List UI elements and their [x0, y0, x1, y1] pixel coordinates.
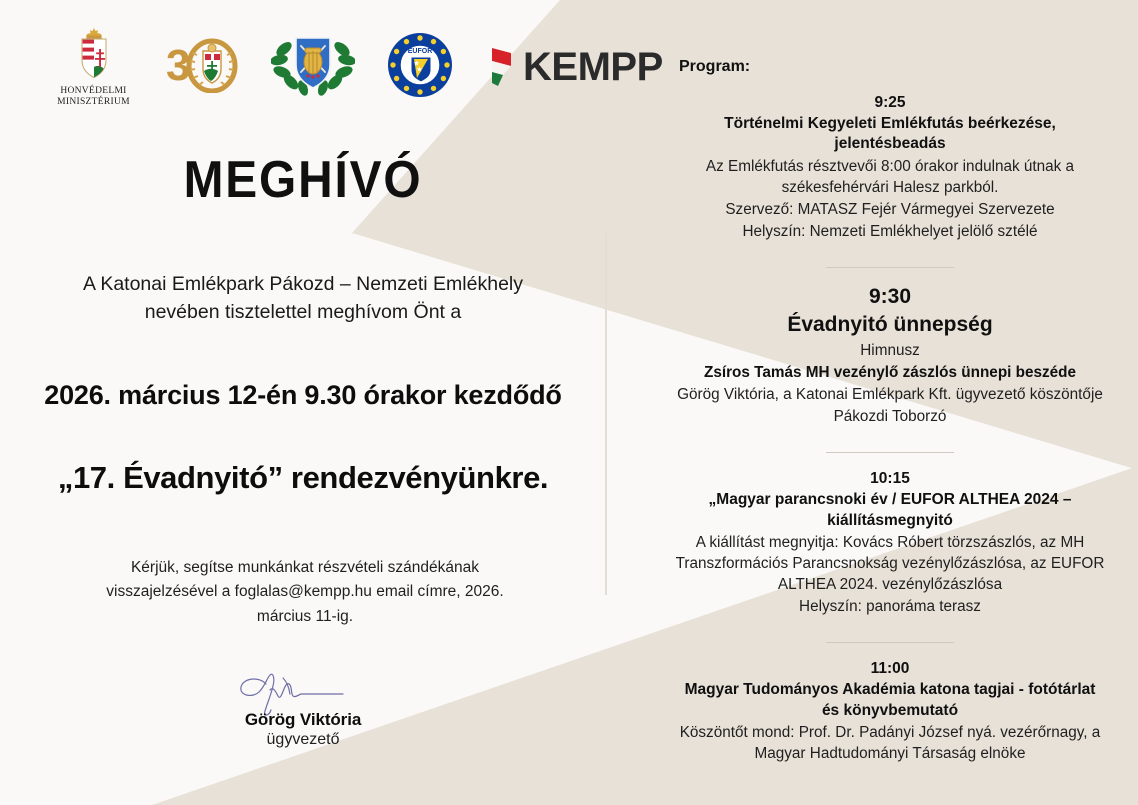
invitation-poster: Honvédelmi Minisztérium 3: [0, 0, 1138, 805]
signature-role: ügyvezető: [163, 731, 443, 749]
program-separator: [826, 452, 954, 453]
eufor-text: EUFOR: [408, 48, 433, 55]
program-item: 9:25Történelmi Kegyeleti Emlékfutás beér…: [675, 94, 1105, 249]
unit-crest-logo: [267, 32, 359, 103]
hungarian-coat-of-arms-icon: [74, 27, 114, 79]
program-item: 9:30Évadnyitó ünnepségHimnuszZsíros Tamá…: [675, 285, 1105, 434]
program-item-detail: Helyszín: Nemzeti Emlékhelyet jelölő szt…: [675, 221, 1105, 242]
anniversary-logo: 3: [157, 37, 249, 98]
program-item-title: Évadnyitó ünnepség: [675, 311, 1105, 338]
signature-block: Görög Viktória ügyvezető: [163, 668, 443, 749]
program-item-title: Történelmi Kegyeleti Emlékfutás beérkezé…: [675, 114, 1105, 155]
program-item-time: 11:00: [675, 660, 1105, 678]
program-item-detail: Zsíros Tamás MH vezénylő zászlós ünnepi …: [675, 362, 1105, 383]
kempp-ribbon-icon: [489, 44, 514, 90]
rsvp-text: Kérjük, segítse munkánkat részvételi szá…: [80, 556, 530, 629]
program-item-title: Magyar Tudományos Akadémia katona tagjai…: [675, 680, 1105, 721]
ministry-logo: Honvédelmi Minisztérium: [46, 27, 141, 107]
military-unit-crest-icon: [271, 32, 355, 98]
kempp-logo: KEMPP: [489, 44, 663, 90]
program-item-detail: Pákozdi Toborzó: [675, 406, 1105, 427]
ministry-caption-line1: Honvédelmi: [46, 86, 141, 97]
eufor-althea-emblem-icon: EUFOR: [387, 32, 453, 98]
program-list: 9:25Történelmi Kegyeleti Emlékfutás beér…: [642, 94, 1138, 772]
handwritten-signature: [223, 668, 383, 716]
program-column: Program: 9:25Történelmi Kegyeleti Emlékf…: [642, 0, 1138, 805]
invitation-lead-text: A Katonai Emlékpark Pákozd – Nemzeti Eml…: [43, 270, 563, 327]
30-years-anniversary-icon: 3: [165, 37, 241, 93]
program-separator: [826, 642, 954, 643]
program-item-time: 10:15: [675, 470, 1105, 488]
program-item-detail: Szervező: MATASZ Fejér Vármegyei Szervez…: [675, 199, 1105, 220]
invitation-event-line: „17. Évadnyitó” rendezvényünkre.: [23, 460, 583, 496]
program-item-detail: A kiállítást megnyitja: Kovács Róbert tö…: [675, 532, 1105, 595]
invitation-date-line: 2026. március 12-én 9.30 órakor kezdődő: [23, 380, 583, 411]
program-item-detail: Himnusz: [675, 340, 1105, 361]
ministry-caption: Honvédelmi Minisztérium: [46, 86, 141, 107]
ministry-caption-line2: Minisztérium: [46, 97, 141, 108]
signature-name: Görög Viktória: [163, 710, 443, 730]
program-separator: [826, 267, 954, 268]
program-item: 11:00Magyar Tudományos Akadémia katona t…: [675, 660, 1105, 771]
program-item-time: 9:25: [675, 94, 1105, 112]
program-item-detail: Görög Viktória, a Katonai Emlékpark Kft.…: [675, 384, 1105, 405]
program-item: 10:15„Magyar parancsnoki év / EUFOR ALTH…: [675, 470, 1105, 624]
invitation-column: Honvédelmi Minisztérium 3: [0, 0, 606, 805]
program-item-detail: Köszöntőt mond: Prof. Dr. Padányi József…: [675, 722, 1105, 764]
program-item-detail: Helyszín: panoráma terasz: [675, 596, 1105, 617]
page-title: MEGHÍVÓ: [24, 150, 582, 210]
eufor-logo: EUFOR: [381, 32, 459, 103]
program-item-title: „Magyar parancsnoki év / EUFOR ALTHEA 20…: [675, 490, 1105, 531]
program-heading: Program:: [679, 58, 750, 76]
program-item-time: 9:30: [675, 285, 1105, 309]
column-divider: [605, 233, 607, 595]
program-item-detail: Az Emlékfutás résztvevői 8:00 órakor ind…: [675, 156, 1105, 198]
logo-row: Honvédelmi Minisztérium 3: [46, 22, 591, 112]
